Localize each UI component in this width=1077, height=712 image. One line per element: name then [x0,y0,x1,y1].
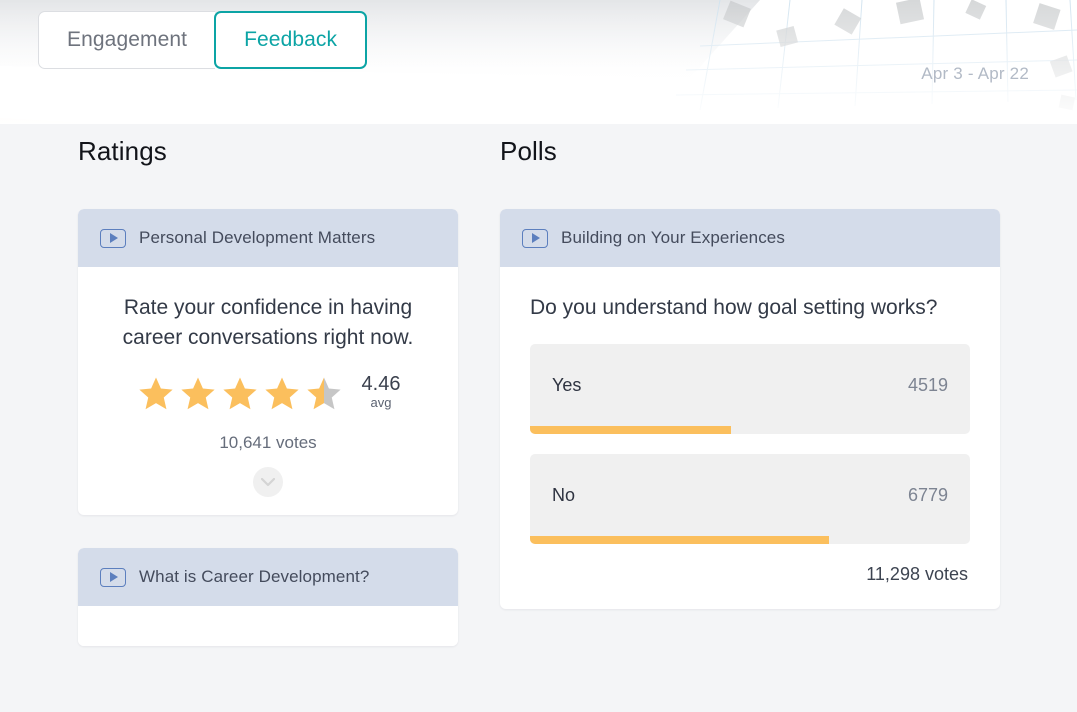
poll-option-bar-track [530,536,970,544]
rating-votes-count: 10,641 votes [102,433,434,453]
rating-card-header[interactable]: Personal Development Matters [78,209,458,267]
poll-option-row[interactable]: Yes 4519 [530,344,970,434]
poll-total-votes: 11,298 votes [530,564,970,585]
poll-card-header[interactable]: Building on Your Experiences [500,209,1000,267]
poll-question: Do you understand how goal setting works… [530,293,970,322]
rating-average-label: avg [362,395,401,411]
star-icon-full [178,375,218,413]
star-icon-full [262,375,302,413]
tab-engagement[interactable]: Engagement [38,11,215,69]
rating-card-header-title: Personal Development Matters [139,228,375,248]
columns-layout: Ratings Personal Development Matters Rat… [0,124,1077,646]
poll-card: Building on Your Experiences Do you unde… [500,209,1000,609]
rating-average-value: 4.46 [362,373,401,395]
main-content: Ratings Personal Development Matters Rat… [0,124,1077,712]
rating-card-body-collapsed [78,606,458,646]
date-range-label[interactable]: Apr 3 - Apr 22 [921,64,1029,84]
star-icon-full [136,375,176,413]
poll-option-count: 4519 [908,375,948,396]
chevron-down-icon [261,478,275,487]
poll-option-row[interactable]: No 6779 [530,454,970,544]
rating-expand-button[interactable] [253,467,283,497]
polls-section-title: Polls [500,136,1010,167]
video-play-icon [522,229,548,248]
tab-group: Engagement Feedback [38,11,367,69]
poll-option-bar-fill [530,536,829,544]
star-icon-full [220,375,260,413]
rating-card-header-title: What is Career Development? [139,567,369,587]
top-bar: Engagement Feedback Apr 3 - Apr 22 [0,0,1077,124]
rating-question: Rate your confidence in having career co… [108,293,428,353]
rating-card-body: Rate your confidence in having career co… [78,267,458,515]
ratings-column: Ratings Personal Development Matters Rat… [0,124,450,646]
ratings-section-title: Ratings [78,136,450,167]
rating-card: What is Career Development? [78,548,458,646]
star-icon-half [304,375,344,413]
poll-option-label: Yes [552,375,581,396]
poll-option-bar-track [530,426,970,434]
rating-average-block: 4.46 avg [362,373,401,411]
rating-card-header[interactable]: What is Career Development? [78,548,458,606]
poll-option-bar-fill [530,426,731,434]
polls-column: Polls Building on Your Experiences Do yo… [450,124,1010,646]
rating-card: Personal Development Matters Rate your c… [78,209,458,515]
video-play-icon [100,568,126,587]
poll-option-count: 6779 [908,485,948,506]
rating-stars-row: 4.46 avg [102,375,434,413]
tab-feedback[interactable]: Feedback [214,11,367,69]
poll-option-label: No [552,485,575,506]
poll-card-header-title: Building on Your Experiences [561,228,785,248]
poll-card-body: Do you understand how goal setting works… [500,267,1000,609]
star-rating [136,375,344,413]
video-play-icon [100,229,126,248]
